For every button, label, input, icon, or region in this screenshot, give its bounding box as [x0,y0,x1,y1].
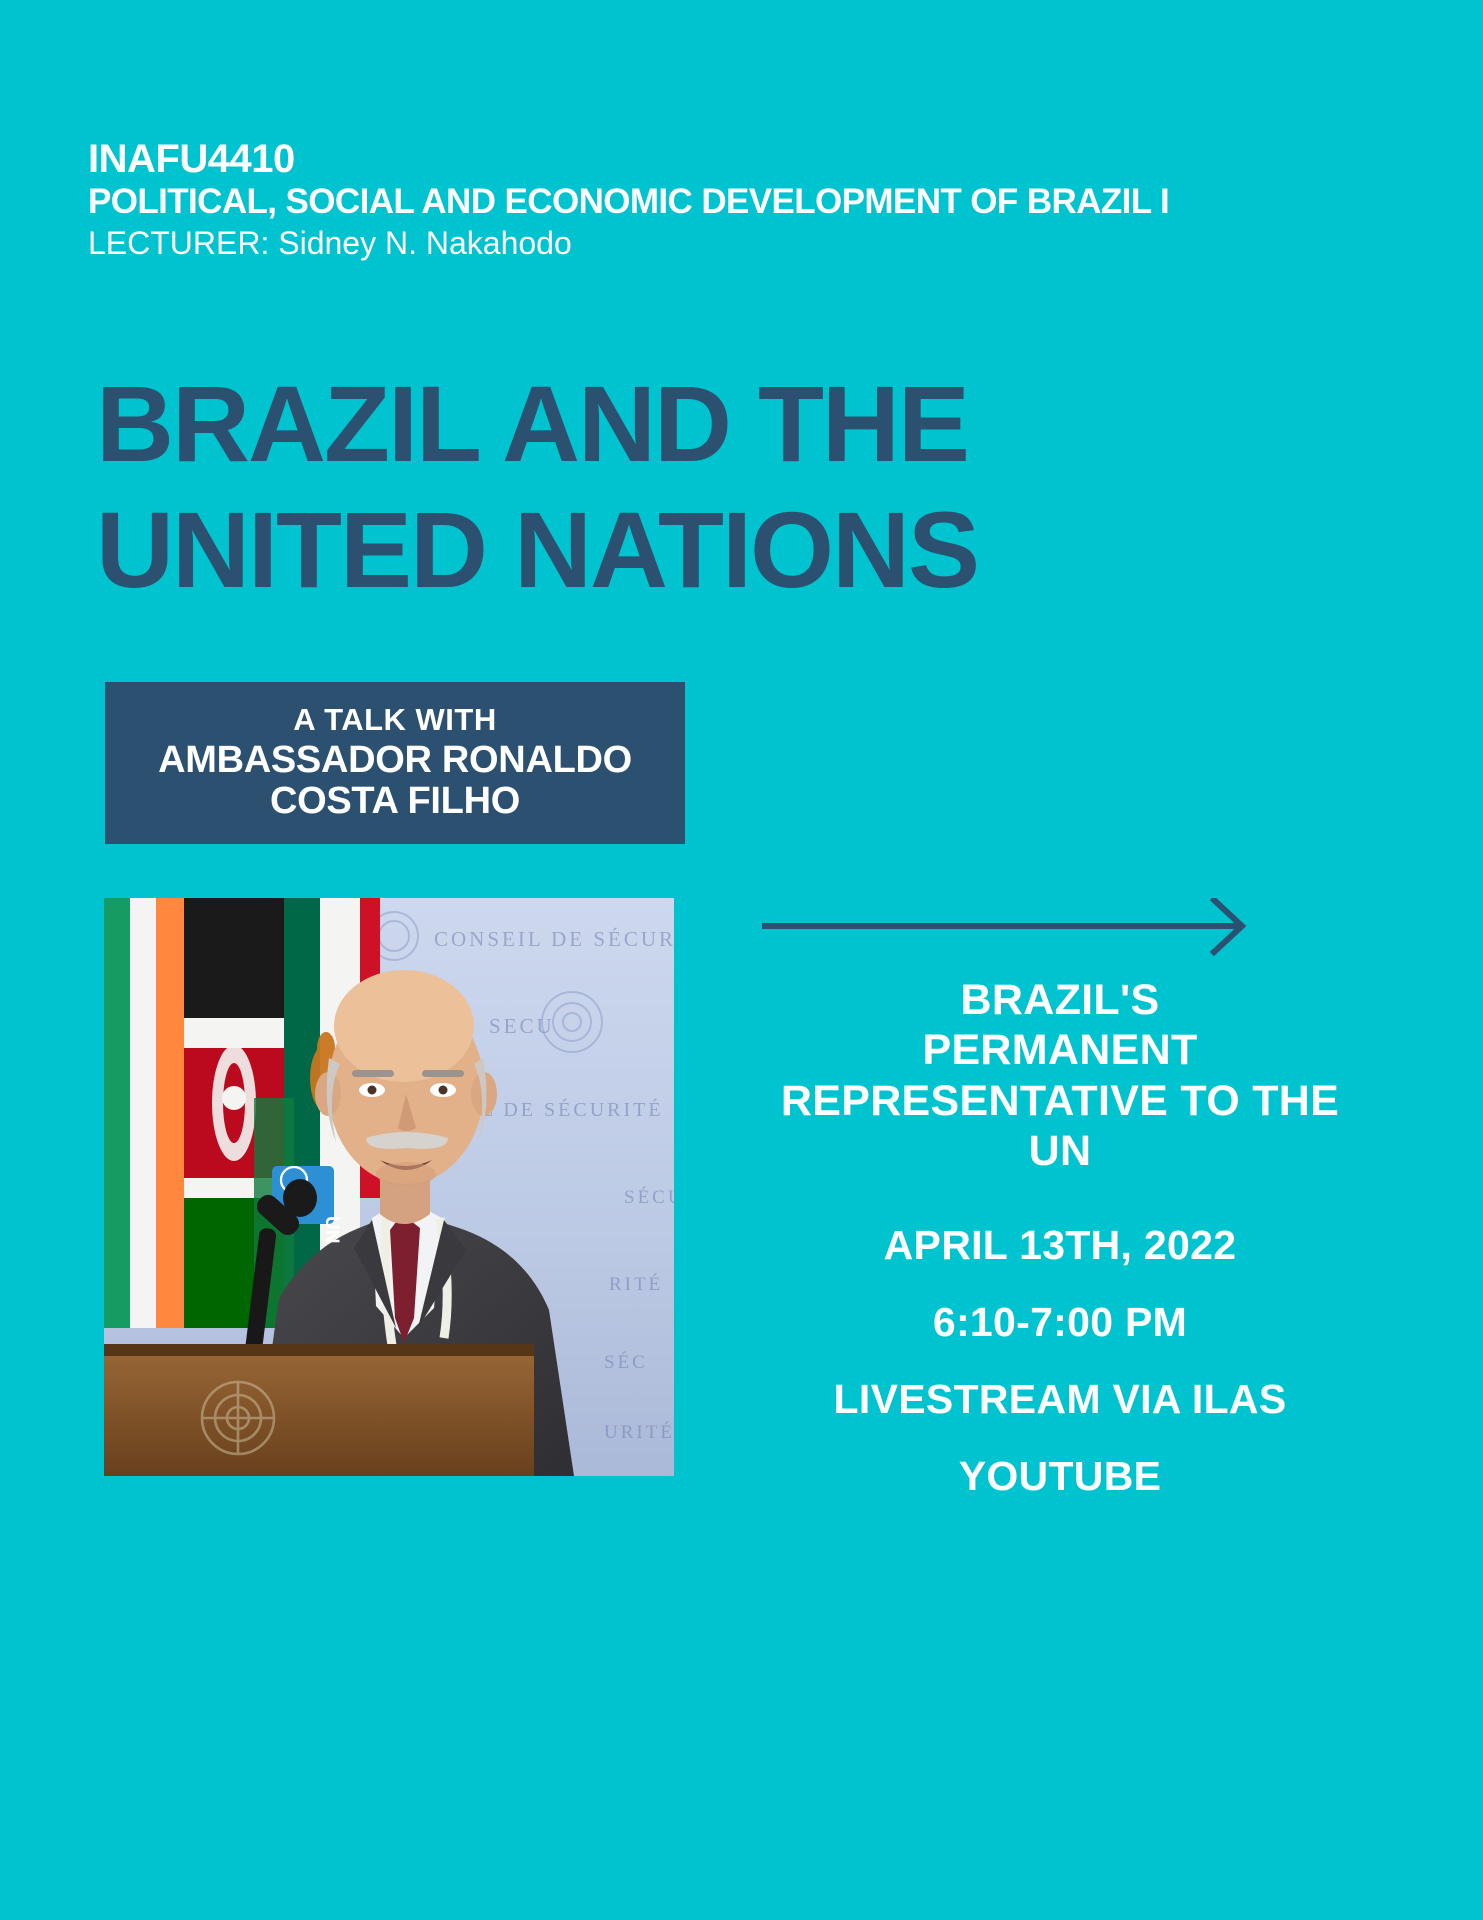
svg-text:SÉCU: SÉCU [624,1186,674,1208]
event-date: APRIL 13TH, 2022 [690,1225,1430,1266]
course-title: POLITICAL, SOCIAL AND ECONOMIC DEVELOPME… [88,183,1418,222]
event-details: APRIL 13TH, 2022 6:10-7:00 PM LIVESTREAM… [690,1225,1430,1497]
speaker-role: BRAZIL'S PERMANENT REPRESENTATIVE TO THE… [690,975,1430,1176]
event-venue-line-2: YOUTUBE [690,1456,1430,1497]
speaker-name-line-2: COSTA FILHO [270,781,520,822]
speaker-role-line-3: REPRESENTATIVE TO THE [690,1076,1430,1126]
event-venue-line-1: LIVESTREAM VIA ILAS [690,1379,1430,1420]
event-poster: INAFU4410 POLITICAL, SOCIAL AND ECONOMIC… [0,0,1483,1920]
event-time: 6:10-7:00 PM [690,1302,1430,1343]
page-title-line-1: BRAZIL AND THE [96,370,1396,478]
course-header: INAFU4410 POLITICAL, SOCIAL AND ECONOMIC… [88,138,1418,261]
svg-text:UN: UN [321,1216,342,1243]
page-title-line-2: UNITED NATIONS [96,496,1396,604]
speaker-role-line-4: UN [690,1126,1430,1176]
speaker-callout-box: A TALK WITH AMBASSADOR RONALDO COSTA FIL… [105,682,685,844]
speaker-name-line-1: AMBASSADOR RONALDO [158,740,632,781]
talk-with-label: A TALK WITH [293,704,497,737]
svg-text:CONSEIL DE SÉCURITÉ: CONSEIL DE SÉCURITÉ [434,927,674,951]
speaker-role-line-1: BRAZIL'S [690,975,1430,1025]
svg-text:RITÉ: RITÉ [609,1273,663,1295]
course-code: INAFU4410 [88,138,1418,181]
arrow-right-icon [762,898,1262,956]
speaker-role-line-2: PERMANENT [690,1025,1430,1075]
speaker-photo: CONSEIL DE SÉCURITÉ SECU ÉIL DE SÉCURITÉ… [104,898,674,1476]
svg-text:URITÉ: URITÉ [604,1421,674,1443]
page-title: BRAZIL AND THE UNITED NATIONS [96,370,1396,622]
sponsor-logos: ILAS Institute of Latin American Studies… [0,1600,1483,1920]
speaker-photo-illustration: CONSEIL DE SÉCURITÉ SECU ÉIL DE SÉCURITÉ… [104,898,674,1476]
course-lecturer: LECTURER: Sidney N. Nakahodo [88,225,1418,262]
svg-text:SÉC: SÉC [604,1351,648,1373]
